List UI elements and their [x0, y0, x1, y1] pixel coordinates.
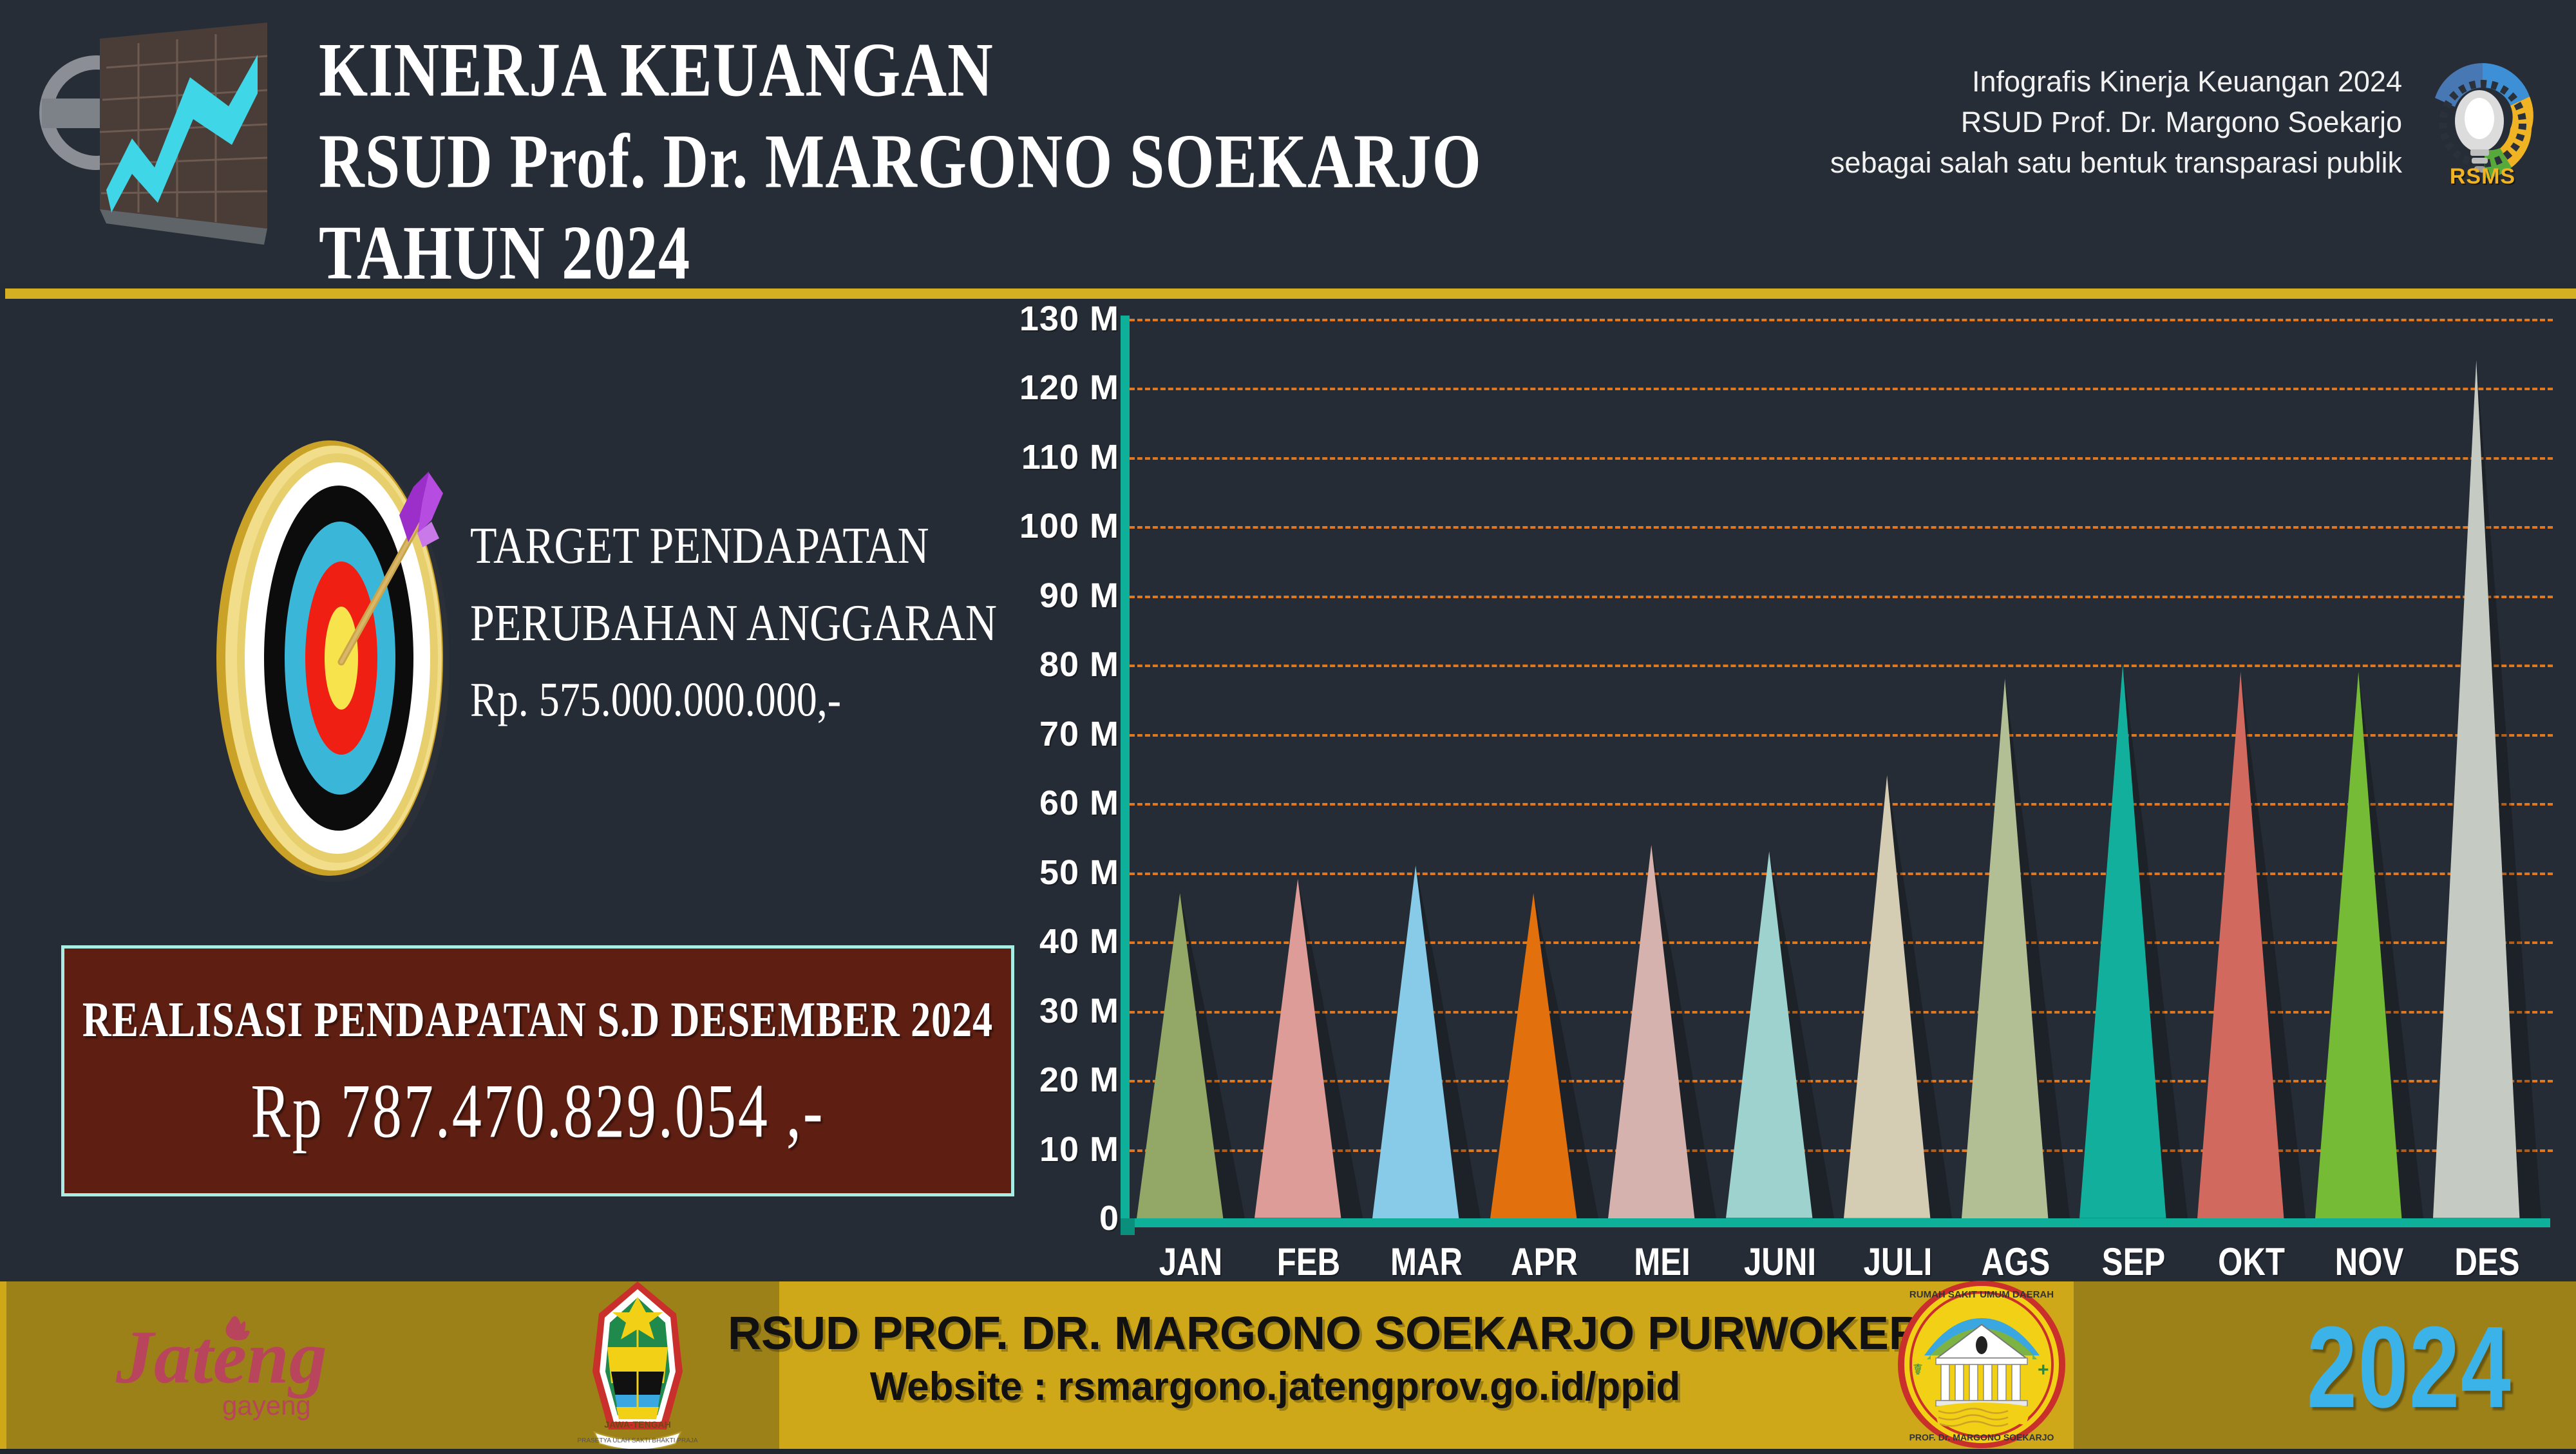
jateng-emblem-caption: JAWA-TENGAH — [604, 1419, 670, 1430]
chart-bar — [1137, 893, 1245, 1218]
bar-cone — [1962, 679, 2070, 1218]
x-tick-label: JAN — [1138, 1240, 1244, 1284]
x-tick-label: JULI — [1845, 1240, 1951, 1284]
growth-chart-icon — [35, 16, 306, 254]
rs-emblem-caption-bottom: PROF. Dr. MARGONO SOEKARJO — [1909, 1432, 2054, 1442]
snake-rod-icon: ☤ — [1913, 1361, 1923, 1379]
bar-cone — [2197, 672, 2306, 1218]
y-axis-line — [1121, 316, 1130, 1222]
y-tick-label: 50 M — [862, 853, 1119, 892]
bar-cone — [1844, 775, 1952, 1218]
bar-cone — [1255, 879, 1363, 1218]
jateng-motto: PRASETYA ULAH SAKTI BHAKTI PRAJA — [577, 1437, 697, 1444]
gridline — [1130, 319, 2553, 321]
realisasi-amount: Rp 787.470.829.054 ,- — [251, 1066, 825, 1155]
realisasi-title: REALISASI PENDAPATAN S.D DESEMBER 2024 — [82, 992, 993, 1049]
gridline — [1130, 388, 2553, 390]
y-tick-label: 90 M — [862, 576, 1119, 616]
bar-cone — [1137, 893, 1245, 1218]
revenue-bar-chart: 130 M120 M110 M100 M90 M80 M70 M60 M50 M… — [1005, 303, 2576, 1269]
title-line-3: TAHUN 2024 — [319, 209, 1832, 298]
footer-text-block: RSUD PROF. DR. MARGONO SOEKARJO PURWOKER… — [728, 1306, 1823, 1413]
chart-bar — [1490, 893, 1598, 1218]
y-tick-label: 30 M — [862, 991, 1119, 1031]
target-dartboard-icon — [187, 425, 496, 889]
y-tick-label: 0 — [862, 1198, 1119, 1238]
footer-banner: Jateng gayeng JAWA-TENGAH PRASETYA ULAH … — [0, 1281, 2576, 1449]
chart-bar — [2079, 665, 2188, 1218]
y-tick-label: 120 M — [862, 368, 1119, 408]
y-tick-label: 100 M — [862, 506, 1119, 546]
header-subtitle: Infografis Kinerja Keuangan 2024 RSUD Pr… — [1501, 61, 2402, 183]
bar-cone — [1372, 865, 1481, 1218]
y-tick-label: 130 M — [862, 299, 1119, 339]
x-tick-label: MAR — [1374, 1240, 1479, 1284]
chart-bar — [1726, 851, 1834, 1218]
subtitle-line-3: sebagai salah satu bentuk transparasi pu… — [1501, 142, 2402, 183]
axis-origin-marker — [1121, 1218, 1135, 1235]
chart-bar — [2315, 672, 2423, 1218]
gayeng-wordmark: gayeng — [222, 1390, 311, 1421]
subtitle-line-1: Infografis Kinerja Keuangan 2024 — [1501, 61, 2402, 102]
bar-cone — [2079, 665, 2188, 1218]
chart-bar — [2433, 360, 2541, 1218]
year-panel: 2024 — [2074, 1281, 2576, 1449]
jateng-wordmark: Jateng — [115, 1315, 327, 1399]
y-tick-label: 110 M — [862, 437, 1119, 477]
rsud-margono-emblem-icon: RUMAH SAKIT UMUM DAERAH PROF. Dr. MARGON… — [1893, 1278, 2070, 1451]
bar-cone — [2315, 672, 2423, 1218]
gridline — [1130, 596, 2553, 598]
x-tick-label: OKT — [2199, 1240, 2304, 1284]
header-banner: KINERJA KEUANGAN RSUD Prof. Dr. MARGONO … — [0, 0, 2576, 283]
x-tick-label: JUNI — [1727, 1240, 1833, 1284]
x-tick-label: AGS — [1963, 1240, 2069, 1284]
year-label: 2024 — [2306, 1301, 2512, 1434]
y-tick-label: 70 M — [862, 714, 1119, 754]
chart-bar — [1962, 679, 2070, 1218]
x-tick-label: SEP — [2081, 1240, 2186, 1284]
jateng-gayeng-logo: Jateng gayeng — [103, 1310, 406, 1423]
x-axis-line — [1121, 1218, 2550, 1227]
x-tick-label: DES — [2434, 1240, 2540, 1284]
y-tick-label: 80 M — [862, 645, 1119, 685]
x-tick-label: APR — [1492, 1240, 1597, 1284]
subtitle-line-2: RSUD Prof. Dr. Margono Soekarjo — [1501, 102, 2402, 142]
bar-cone — [1608, 845, 1716, 1218]
x-tick-label: NOV — [2316, 1240, 2422, 1284]
chart-bar — [1255, 879, 1363, 1218]
chart-bar — [1372, 865, 1481, 1218]
bar-cone — [2433, 360, 2541, 1218]
bar-cone — [1726, 851, 1834, 1218]
y-tick-label: 10 M — [862, 1129, 1119, 1169]
header-divider — [5, 288, 2576, 299]
gridline — [1130, 665, 2553, 667]
jawa-tengah-emblem-icon: JAWA-TENGAH PRASETYA ULAH SAKTI BHAKTI P… — [544, 1275, 731, 1449]
y-tick-label: 20 M — [862, 1060, 1119, 1100]
x-tick-label: MEI — [1609, 1240, 1715, 1284]
rs-emblem-caption-top: RUMAH SAKIT UMUM DAERAH — [1909, 1289, 2054, 1300]
x-tick-label: FEB — [1256, 1240, 1361, 1284]
green-cross-icon: + — [2038, 1359, 2049, 1381]
chart-bar — [1844, 775, 1952, 1218]
gridline — [1130, 526, 2553, 529]
rsms-logo-label: RSMS — [2428, 164, 2537, 189]
y-tick-label: 40 M — [862, 921, 1119, 961]
chart-bar — [1608, 845, 1716, 1218]
y-tick-label: 60 M — [862, 783, 1119, 823]
hospital-name: RSUD PROF. DR. MARGONO SOEKARJO PURWOKER… — [728, 1306, 1823, 1361]
gridline — [1130, 457, 2553, 460]
bar-cone — [1490, 893, 1598, 1218]
chart-bar — [2197, 672, 2306, 1218]
hospital-website[interactable]: Website : rsmargono.jatengprov.go.id/ppi… — [728, 1361, 1823, 1413]
